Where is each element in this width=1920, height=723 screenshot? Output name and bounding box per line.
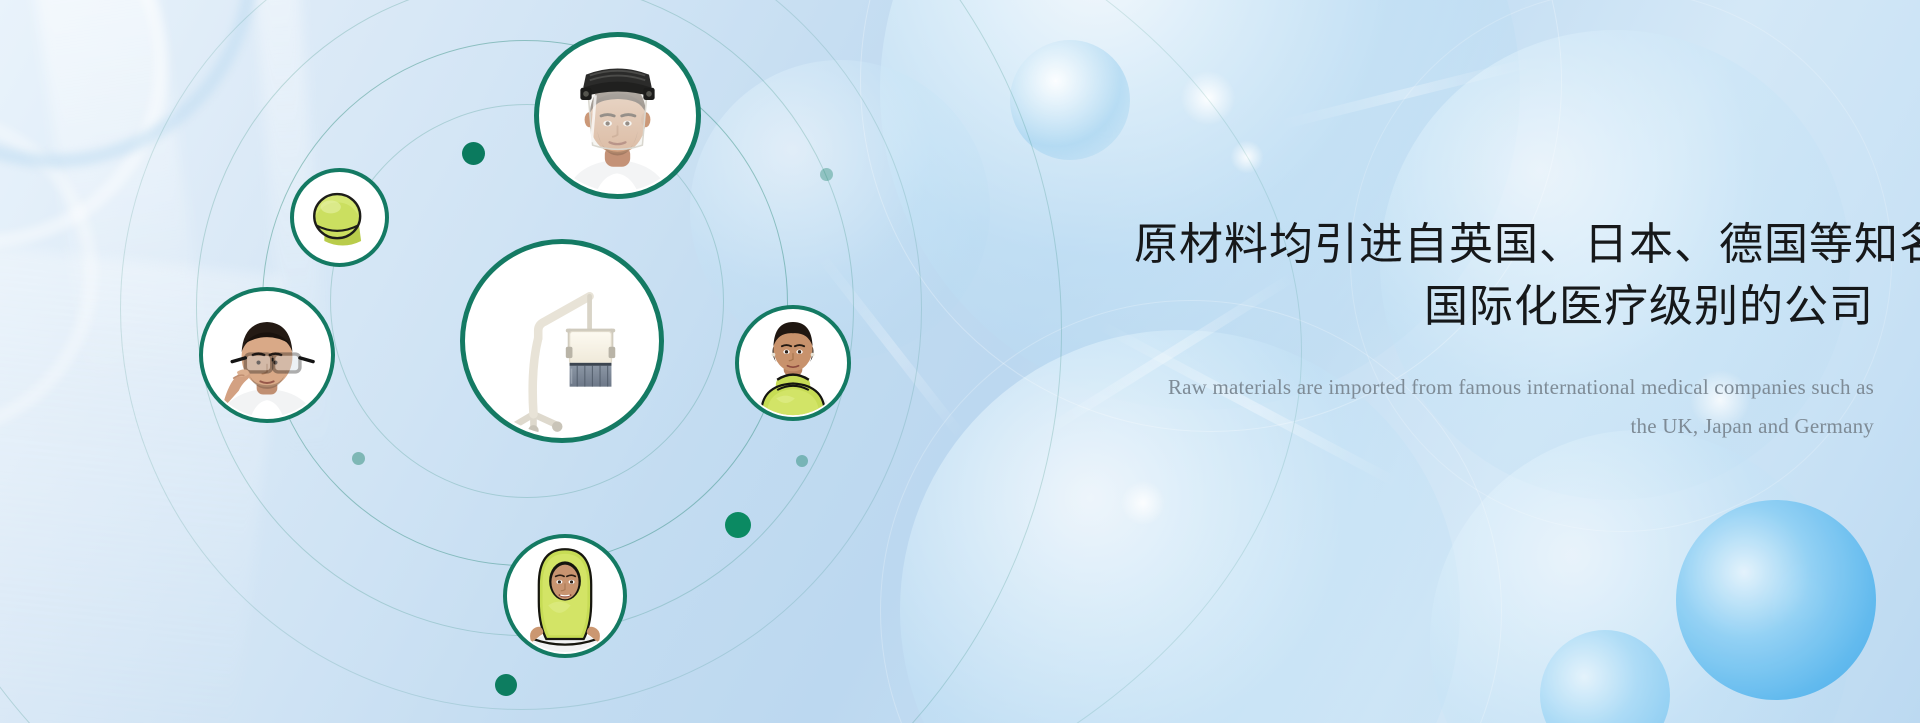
orbit-dot-large xyxy=(495,674,517,696)
bubble-lead-glasses[interactable] xyxy=(199,287,335,423)
hero-banner: 原材料均引进自英国、日本、德国等知名 国际化医疗级别的公司 Raw materi… xyxy=(0,0,1920,723)
protective-hood-icon xyxy=(507,538,623,654)
headline-line-2: 国际化医疗级别的公司 xyxy=(1134,276,1874,338)
orbit-dot-small xyxy=(352,452,365,465)
orbit-dot-large xyxy=(462,142,485,165)
orbit-dot-small xyxy=(796,455,808,467)
mobile-lead-shield-icon xyxy=(465,244,659,438)
dna-helix-decoration xyxy=(0,0,258,168)
bubble-mobile-shield[interactable] xyxy=(460,239,664,443)
lead-glasses-icon xyxy=(203,291,331,419)
hero-subcopy: Raw materials are imported from famous i… xyxy=(1134,368,1874,446)
bubble-thyroid-collar[interactable] xyxy=(735,305,851,421)
subtitle-line-2: the UK, Japan and Germany xyxy=(1134,407,1874,446)
thyroid-collar-icon xyxy=(739,309,847,417)
bubble-protective-cap[interactable] xyxy=(290,168,389,267)
bubble-face-shield[interactable] xyxy=(534,32,701,199)
orbit-dot-small xyxy=(820,168,833,181)
face-shield-icon xyxy=(539,37,696,194)
headline-line-1: 原材料均引进自英国、日本、德国等知名 xyxy=(1134,214,1874,276)
hero-copy: 原材料均引进自英国、日本、德国等知名 国际化医疗级别的公司 xyxy=(1134,214,1874,339)
protective-cap-icon xyxy=(294,172,385,263)
orbit-dot-large xyxy=(725,512,751,538)
subtitle-line-1: Raw materials are imported from famous i… xyxy=(1134,368,1874,407)
bubble-protective-hood[interactable] xyxy=(503,534,627,658)
